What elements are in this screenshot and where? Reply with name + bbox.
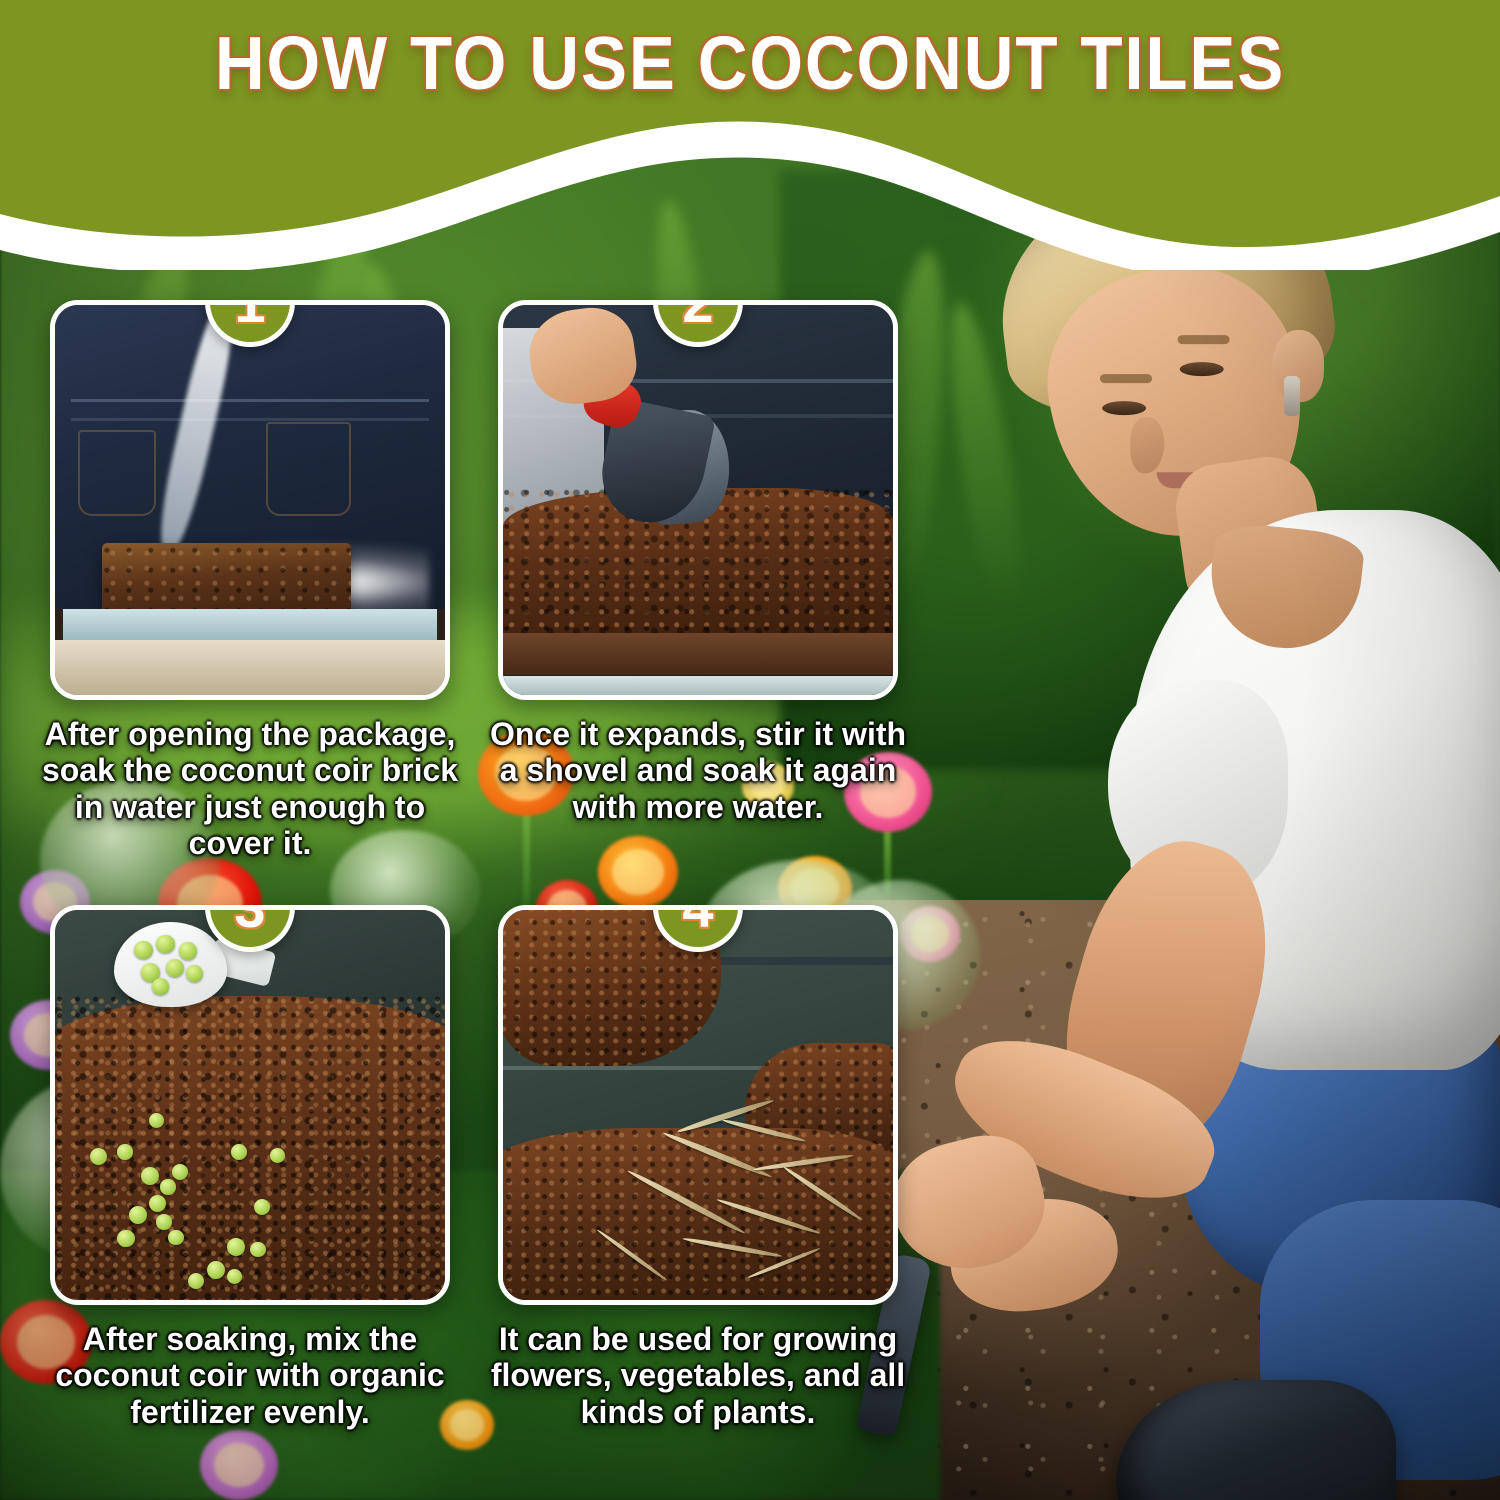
scene-stirring-coir xyxy=(503,305,893,695)
step-card-2[interactable]: 2 Once it expands, stir it with a shovel… xyxy=(478,300,918,825)
step-card-4[interactable]: 4 It can be used for growing flowers, ve… xyxy=(478,905,918,1430)
step-caption-1: After opening the package, soak the coco… xyxy=(30,716,470,862)
scene-water-on-brick xyxy=(55,305,445,695)
infographic-canvas: HOW TO USE COCONUT TILES 1 xyxy=(0,0,1500,1500)
step-1-photo[interactable]: 1 xyxy=(50,300,450,700)
step-caption-4: It can be used for growing flowers, vege… xyxy=(478,1321,918,1430)
scene-coir-with-roots xyxy=(503,910,893,1300)
soaked-coir xyxy=(50,996,450,1305)
step-4-photo[interactable]: 4 xyxy=(498,905,898,1305)
step-caption-3: After soaking, mix the coconut coir with… xyxy=(30,1321,470,1430)
step-2-photo[interactable]: 2 xyxy=(498,300,898,700)
step-caption-2: Once it expands, stir it with a shovel a… xyxy=(478,716,918,825)
step-3-photo[interactable]: 3 xyxy=(50,905,450,1305)
scene-fertilizer-mix xyxy=(55,910,445,1300)
coir-brick xyxy=(102,543,352,617)
step-card-1[interactable]: 1 After opening the package, soak the co… xyxy=(30,300,470,862)
step-card-3[interactable]: 3 After soaking, mix the coconut coir wi… xyxy=(30,905,470,1430)
steps-grid: 1 After opening the package, soak the co… xyxy=(0,0,1500,1500)
